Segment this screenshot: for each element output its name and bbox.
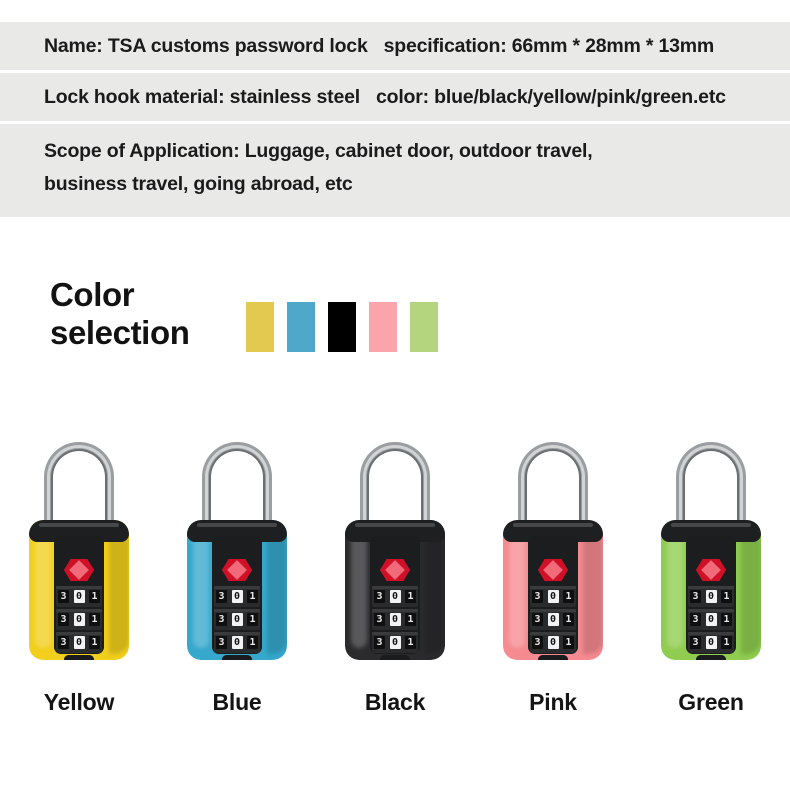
tsa-logo-icon (64, 559, 94, 581)
dial-row: 301 (688, 632, 734, 653)
dial-digit: 0 (548, 613, 559, 626)
spec-line-material: Lock hook material: stainless steelcolor… (44, 82, 790, 112)
tsa-logo-icon (696, 559, 726, 581)
dial-row: 301 (214, 586, 260, 607)
combination-dials[interactable]: 301 301 301 (56, 586, 102, 655)
padlock-image-pink: 301 301 301 (498, 430, 608, 675)
product-label-green: Green (678, 689, 743, 716)
dial-digit: 1 (563, 590, 574, 603)
combination-dials[interactable]: 301 301 301 (372, 586, 418, 655)
lock-body: 301 301 301 (503, 520, 603, 660)
dial-row: 301 (372, 632, 418, 653)
swatch-green[interactable] (410, 302, 438, 352)
tsa-logo-icon (222, 559, 252, 581)
dial-digit: 3 (532, 613, 543, 626)
dial-digit: 3 (216, 613, 227, 626)
dial-row: 301 (530, 609, 576, 630)
product-label-pink: Pink (529, 689, 577, 716)
spec-name-value: Name: TSA customs password lock (44, 35, 368, 57)
dial-digit: 3 (690, 636, 701, 649)
dial-digit: 0 (706, 590, 717, 603)
padlock-image-yellow: 301 301 301 (24, 430, 134, 675)
dial-digit: 0 (74, 613, 85, 626)
swatch-yellow[interactable] (246, 302, 274, 352)
keyhole-icon (538, 655, 568, 660)
dial-digit: 3 (690, 613, 701, 626)
dial-digit: 1 (89, 636, 100, 649)
dial-plate: 301 301 301 (370, 536, 420, 654)
dial-row: 301 (56, 586, 102, 607)
keyhole-icon (222, 655, 252, 660)
spec-row-scope: Scope of Application: Luggage, cabinet d… (0, 124, 790, 217)
product-variant-green[interactable]: 301 301 301 Green (632, 430, 790, 720)
dial-digit: 0 (232, 636, 243, 649)
spec-row-material: Lock hook material: stainless steelcolor… (0, 73, 790, 124)
swatch-pink[interactable] (369, 302, 397, 352)
dial-row: 301 (688, 609, 734, 630)
dial-digit: 1 (563, 613, 574, 626)
lock-body: 301 301 301 (661, 520, 761, 660)
product-variant-pink[interactable]: 301 301 301 Pink (474, 430, 632, 720)
color-selection-section: Color selection (0, 276, 790, 366)
keyhole-icon (380, 655, 410, 660)
dial-digit: 0 (390, 613, 401, 626)
dial-digit: 3 (532, 590, 543, 603)
dial-row: 301 (214, 632, 260, 653)
dial-digit: 1 (721, 636, 732, 649)
dial-digit: 1 (89, 613, 100, 626)
lock-body: 301 301 301 (187, 520, 287, 660)
padlock-image-blue: 301 301 301 (182, 430, 292, 675)
dial-plate: 301 301 301 (686, 536, 736, 654)
dial-digit: 3 (532, 636, 543, 649)
lock-body: 301 301 301 (29, 520, 129, 660)
combination-dials[interactable]: 301 301 301 (688, 586, 734, 655)
dial-digit: 3 (58, 636, 69, 649)
padlock-image-black: 301 301 301 (340, 430, 450, 675)
dial-row: 301 (530, 586, 576, 607)
dial-digit: 0 (390, 636, 401, 649)
dial-plate: 301 301 301 (212, 536, 262, 654)
dial-digit: 1 (405, 613, 416, 626)
dial-row: 301 (372, 609, 418, 630)
dial-plate: 301 301 301 (528, 536, 578, 654)
dial-digit: 0 (232, 613, 243, 626)
color-selection-title: Color selection (50, 276, 189, 352)
tsa-logo-icon (538, 559, 568, 581)
dial-digit: 3 (216, 636, 227, 649)
spec-scope-line-2: business travel, going abroad, etc (44, 168, 790, 201)
dial-digit: 3 (690, 590, 701, 603)
lock-body: 301 301 301 (345, 520, 445, 660)
spec-specification-value: specification: 66mm * 28mm * 13mm (384, 35, 714, 57)
swatch-blue[interactable] (287, 302, 315, 352)
color-swatch-group (246, 302, 438, 352)
dial-digit: 0 (74, 590, 85, 603)
dial-digit: 0 (390, 590, 401, 603)
color-title-line-1: Color (50, 276, 189, 314)
spec-line-name: Name: TSA customs password lockspecifica… (44, 31, 790, 61)
spec-color-value: color: blue/black/yellow/pink/green.etc (376, 86, 726, 108)
color-title-line-2: selection (50, 314, 189, 352)
dial-digit: 1 (89, 590, 100, 603)
product-label-black: Black (365, 689, 425, 716)
dial-digit: 0 (74, 636, 85, 649)
specification-panel: Name: TSA customs password lockspecifica… (0, 22, 790, 217)
dial-row: 301 (688, 586, 734, 607)
spec-material-value: Lock hook material: stainless steel (44, 86, 360, 108)
dial-digit: 3 (216, 590, 227, 603)
dial-digit: 3 (58, 613, 69, 626)
padlock-image-green: 301 301 301 (656, 430, 766, 675)
product-variant-row: 301 301 301 Yellow (0, 430, 790, 720)
dial-digit: 1 (405, 636, 416, 649)
dial-digit: 3 (374, 590, 385, 603)
spec-scope-line-1: Scope of Application: Luggage, cabinet d… (44, 135, 790, 168)
dial-digit: 0 (548, 590, 559, 603)
dial-digit: 1 (247, 613, 258, 626)
combination-dials[interactable]: 301 301 301 (530, 586, 576, 655)
dial-row: 301 (56, 609, 102, 630)
dial-row: 301 (214, 609, 260, 630)
dial-digit: 1 (721, 613, 732, 626)
dial-digit: 1 (721, 590, 732, 603)
product-variant-yellow[interactable]: 301 301 301 Yellow (0, 430, 158, 720)
product-label-blue: Blue (212, 689, 261, 716)
combination-dials[interactable]: 301 301 301 (214, 586, 260, 655)
dial-digit: 3 (374, 613, 385, 626)
dial-digit: 0 (232, 590, 243, 603)
product-label-yellow: Yellow (44, 689, 114, 716)
dial-digit: 1 (405, 590, 416, 603)
dial-digit: 3 (58, 590, 69, 603)
dial-row: 301 (372, 586, 418, 607)
dial-digit: 0 (706, 636, 717, 649)
product-variant-black[interactable]: 301 301 301 Black (316, 430, 474, 720)
dial-row: 301 (530, 632, 576, 653)
dial-digit: 3 (374, 636, 385, 649)
swatch-black[interactable] (328, 302, 356, 352)
keyhole-icon (64, 655, 94, 660)
dial-digit: 0 (548, 636, 559, 649)
dial-digit: 1 (247, 590, 258, 603)
keyhole-icon (696, 655, 726, 660)
dial-plate: 301 301 301 (54, 536, 104, 654)
dial-digit: 0 (706, 613, 717, 626)
dial-digit: 1 (247, 636, 258, 649)
tsa-logo-icon (380, 559, 410, 581)
product-variant-blue[interactable]: 301 301 301 Blue (158, 430, 316, 720)
dial-digit: 1 (563, 636, 574, 649)
dial-row: 301 (56, 632, 102, 653)
spec-row-name: Name: TSA customs password lockspecifica… (0, 22, 790, 73)
